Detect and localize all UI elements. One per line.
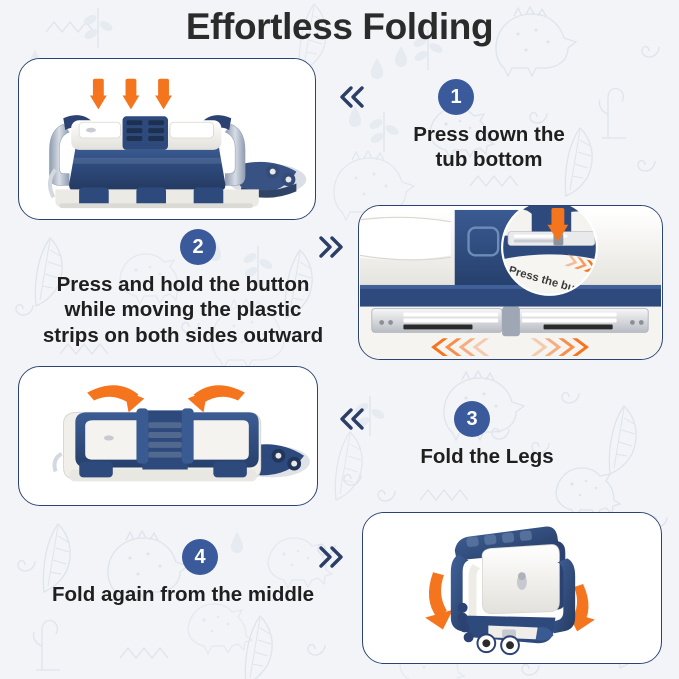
step-2-badge-row: 2 — [18, 228, 348, 266]
double-chevron-right-icon — [316, 544, 344, 570]
step-4-text: Fold again from the middle — [18, 582, 348, 607]
step-3-photo — [18, 366, 318, 506]
double-chevron-left-icon — [338, 84, 366, 110]
step-3-badge: 3 — [454, 401, 490, 437]
step-1-photo — [18, 58, 316, 220]
step-3: 3 Fold the Legs — [338, 400, 668, 469]
step-2-photo: Press the button — [358, 205, 663, 360]
step-3-badge-row: 3 — [338, 400, 668, 438]
step-4-badge: 4 — [182, 539, 218, 575]
step-2-badge: 2 — [180, 229, 216, 265]
step-4-badge-row: 4 — [18, 538, 348, 576]
infographic-root: Effortless Folding — [0, 0, 679, 679]
step-4-photo — [362, 512, 662, 664]
step-1-text: Press down the tub bottom — [358, 122, 620, 173]
step-1: 1 Press down the tub bottom — [338, 78, 668, 173]
double-chevron-left-icon — [338, 406, 366, 432]
step-1-badge-row: 1 — [338, 78, 668, 116]
step-2-text: Press and hold the button while moving t… — [18, 272, 348, 348]
step-4: 4 Fold again from the middle — [18, 538, 348, 607]
step-2: 2 Press and hold the button while moving… — [18, 228, 348, 348]
step-3-text: Fold the Legs — [356, 444, 618, 469]
step-1-badge: 1 — [438, 79, 474, 115]
double-chevron-right-icon — [316, 234, 344, 260]
page-title: Effortless Folding — [0, 6, 679, 48]
